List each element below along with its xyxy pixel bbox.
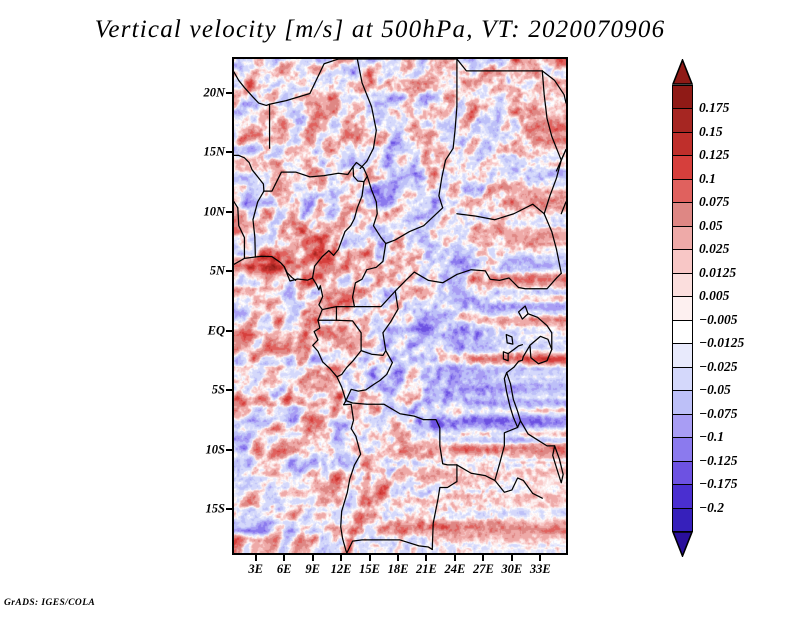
map-boundary-line <box>519 306 528 319</box>
map-boundary-line <box>313 182 364 278</box>
latitude-tick-mark <box>226 151 232 153</box>
map-boundary-line <box>234 202 244 259</box>
map-boundary-line <box>270 59 339 104</box>
colorbar-tick-label: −0.175 <box>699 476 738 492</box>
map-boundary-line <box>264 167 353 191</box>
longitude-tick-label: 30E <box>501 562 522 577</box>
longitude-tick-label: 24E <box>444 562 465 577</box>
colorbar-tick-label: 0.1 <box>699 171 716 187</box>
latitude-tick-label: 10S <box>206 442 225 457</box>
colorbar-max-arrow <box>672 59 693 85</box>
map-boundary-line <box>336 320 361 377</box>
colorbar-tick-label: −0.025 <box>699 359 738 375</box>
map-boundary-line <box>234 155 264 191</box>
map-boundary-line <box>553 446 563 483</box>
colorbar-tick-label: 0.175 <box>699 100 729 116</box>
colorbar-swatch <box>672 132 693 157</box>
longitude-tick-mark <box>369 555 371 561</box>
map-boundary-line <box>520 421 554 446</box>
colorbar-tick-label: −0.2 <box>699 500 724 516</box>
map-boundary-line <box>542 71 561 160</box>
longitude-tick-mark <box>397 555 399 561</box>
latitude-tick-label: 15S <box>206 502 225 517</box>
latitude-tick-mark <box>226 449 232 451</box>
colorbar-swatch <box>672 508 693 533</box>
map-boundary-line <box>457 465 542 498</box>
colorbar-tick-label: −0.075 <box>699 406 738 422</box>
colorbar-swatch <box>672 249 693 274</box>
latitude-tick-mark <box>226 330 232 332</box>
map-boundary-line <box>507 345 530 372</box>
map-boundary-line <box>503 352 508 361</box>
colorbar-swatch <box>672 85 693 110</box>
longitude-tick-mark <box>454 555 456 561</box>
footer-credit: GrADS: IGES/COLA <box>4 598 95 608</box>
map-boundary-line <box>432 465 457 550</box>
colorbar-tick-label: 0.125 <box>699 147 729 163</box>
colorbar-swatch <box>672 320 693 345</box>
longitude-tick-label: 9E <box>305 562 320 577</box>
colorbar-swatch <box>672 437 693 462</box>
map-boundary-line <box>506 335 513 345</box>
colorbar-tick-label: 0.0125 <box>699 265 736 281</box>
colorbar-swatch <box>672 390 693 415</box>
longitude-tick-mark <box>283 555 285 561</box>
longitude-tick-mark <box>312 555 314 561</box>
map-boundary-line <box>253 191 264 257</box>
colorbar-swatch <box>672 414 693 439</box>
longitude-tick-label: 12E <box>331 562 352 577</box>
latitude-tick-mark <box>226 211 232 213</box>
longitude-tick-mark <box>340 555 342 561</box>
plot-area: 20N15N10N5NEQ5S10S15S 3E6E9E12E15E18E21E… <box>232 57 568 555</box>
colorbar-tick-label: 0.075 <box>699 194 729 210</box>
latitude-tick-label: 15N <box>203 145 225 160</box>
colorbar-tick-label: 0.05 <box>699 218 723 234</box>
colorbar-swatch <box>672 367 693 392</box>
map-boundary-line <box>561 202 566 214</box>
map-boundaries-overlay <box>234 59 566 553</box>
map-boundary-line <box>353 163 367 182</box>
longitude-tick-label: 3E <box>248 562 263 577</box>
map-frame <box>232 57 568 555</box>
map-boundary-line <box>357 59 376 169</box>
colorbar-min-arrow <box>672 531 693 557</box>
map-boundary-line <box>439 107 457 208</box>
colorbar-swatch <box>672 108 693 133</box>
longitude-tick-mark <box>425 555 427 561</box>
map-boundary-line <box>504 373 520 428</box>
latitude-tick-mark <box>226 389 232 391</box>
latitude-tick-label: 20N <box>203 85 225 100</box>
longitude-tick-label: 6E <box>277 562 292 577</box>
colorbar-swatch <box>672 484 693 509</box>
map-boundary-line <box>495 427 518 480</box>
map-boundary-line <box>346 401 457 465</box>
map-boundary-line <box>234 72 270 105</box>
map-boundary-line <box>367 176 386 243</box>
map-boundary-line <box>530 336 552 363</box>
map-boundary-line <box>354 270 518 307</box>
colorbar-tick-label: −0.1 <box>699 429 724 445</box>
colorbar-tick-label: 0.025 <box>699 241 729 257</box>
latitude-tick-mark <box>226 508 232 510</box>
colorbar-swatch <box>672 155 693 180</box>
page-title: Vertical velocity [m/s] at 500hPa, VT: 2… <box>0 16 760 44</box>
latitude-tick-label: 5S <box>212 383 225 398</box>
colorbar-swatch <box>672 202 693 227</box>
longitude-tick-label: 18E <box>388 562 409 577</box>
map-boundary-line <box>361 351 386 356</box>
map-boundary-line <box>457 204 544 219</box>
colorbar-tick-label: −0.0125 <box>699 335 744 351</box>
latitude-tick-label: EQ <box>208 323 225 338</box>
map-boundary-line <box>353 244 386 307</box>
colorbar: 0.1750.150.1250.10.0750.050.0250.01250.0… <box>672 59 693 557</box>
longitude-tick-label: 21E <box>416 562 437 577</box>
longitude-tick-label: 27E <box>473 562 494 577</box>
longitude-tick-mark <box>482 555 484 561</box>
colorbar-tick-label: −0.125 <box>699 453 738 469</box>
colorbar-swatch <box>672 226 693 251</box>
colorbar-swatch <box>672 461 693 486</box>
longitude-tick-label: 15E <box>359 562 380 577</box>
map-boundary-line <box>346 291 398 401</box>
map-boundary-line <box>284 267 295 281</box>
map-boundary-line <box>519 273 562 288</box>
colorbar-tick-label: 0.005 <box>699 288 729 304</box>
colorbar-tick-label: −0.05 <box>699 382 731 398</box>
map-boundary-line <box>347 540 432 553</box>
latitude-tick-label: 10N <box>203 204 225 219</box>
longitude-tick-mark <box>511 555 513 561</box>
map-boundary-line <box>338 59 542 71</box>
colorbar-tick-label: 0.15 <box>699 124 723 140</box>
colorbar-swatch <box>672 296 693 321</box>
map-boundary-line <box>322 307 354 310</box>
colorbar-tick-label: −0.005 <box>699 312 738 328</box>
colorbar-swatch <box>672 343 693 368</box>
longitude-tick-label: 33E <box>530 562 551 577</box>
latitude-tick-label: 5N <box>210 264 225 279</box>
map-boundary-line <box>386 208 443 244</box>
latitude-tick-mark <box>226 270 232 272</box>
map-boundary-line <box>234 256 361 553</box>
colorbar-swatch <box>672 273 693 298</box>
colorbar-swatch <box>672 179 693 204</box>
map-boundary-line <box>542 71 566 103</box>
longitude-tick-mark <box>255 555 257 561</box>
map-boundary-line <box>508 345 522 354</box>
latitude-tick-mark <box>226 92 232 94</box>
longitude-tick-mark <box>539 555 541 561</box>
